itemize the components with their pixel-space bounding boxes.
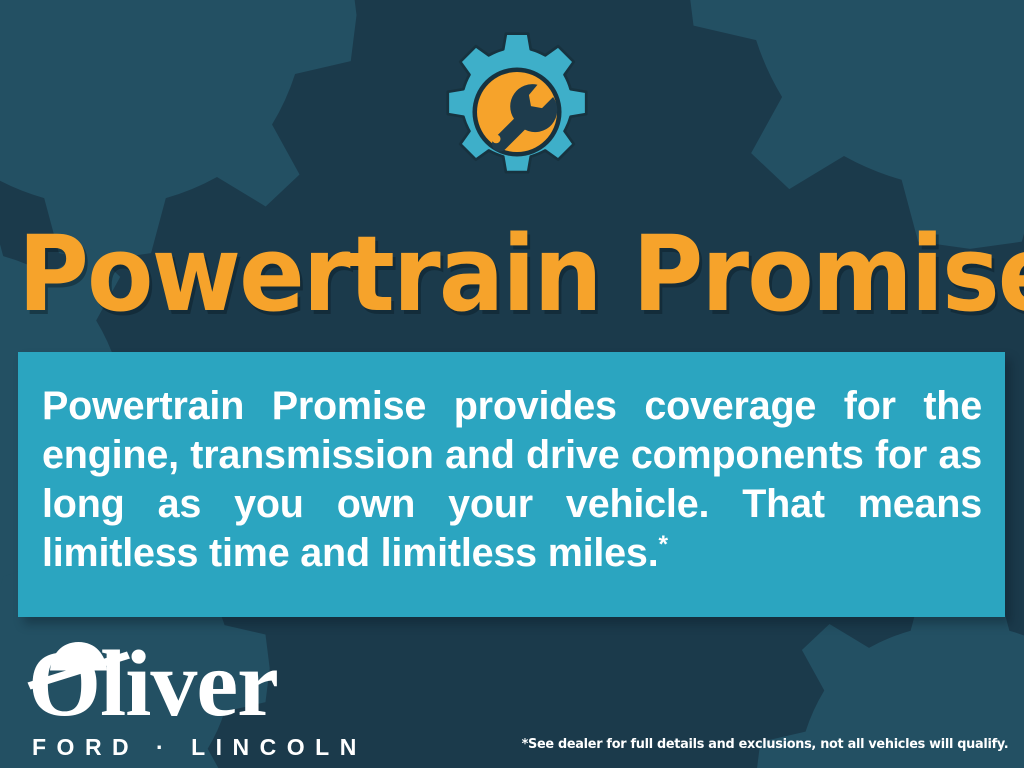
body-text-content: Powertrain Promise provides coverage for… [42, 384, 982, 575]
dealer-logo: Oliver FORD · LINCOLN [28, 638, 328, 758]
disclaimer-text: *See dealer for full details and exclusi… [521, 735, 1008, 753]
body-text: Powertrain Promise provides coverage for… [42, 382, 982, 578]
dealer-logo-name: Oliver [28, 638, 328, 730]
powertrain-promise-poster: Powertrain Promise Powertrain Promise pr… [0, 0, 1024, 768]
dealer-logo-subtitle: FORD · LINCOLN [32, 734, 367, 761]
footnote-marker: * [658, 531, 667, 558]
gear-wrench-icon [433, 28, 601, 196]
body-panel: Powertrain Promise provides coverage for… [18, 352, 1005, 617]
page-title: Powertrain Promise [18, 219, 939, 329]
